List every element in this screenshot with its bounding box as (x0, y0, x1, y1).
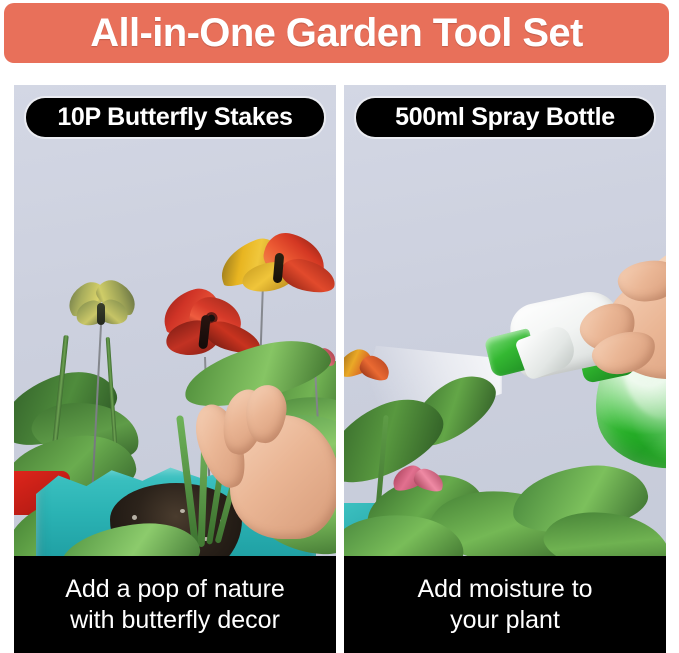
hand-holding-bottle (576, 253, 666, 403)
product-card-butterfly-stakes[interactable]: 10P Butterfly Stakes Add a pop of nature… (14, 85, 336, 653)
butterfly-stake-pink (392, 463, 444, 497)
caption-butterfly-stakes: Add a pop of naturewith butterfly decor (14, 556, 336, 653)
badge-spray-bottle: 500ml Spray Bottle (356, 98, 654, 137)
product-photo-spray-bottle: 500ml Spray Bottle (344, 85, 666, 556)
caption-text: Add a pop of naturewith butterfly decor (49, 574, 301, 636)
page-title: All-in-One Garden Tool Set (90, 13, 583, 53)
header-banner: All-in-One Garden Tool Set (4, 3, 669, 63)
product-photo-butterfly-stakes: 10P Butterfly Stakes (14, 85, 336, 556)
badge-label: 10P Butterfly Stakes (57, 105, 292, 130)
butterfly-stake-yellow-red (218, 235, 336, 299)
soil-fleck (132, 515, 137, 520)
caption-text: Add moisture toyour plant (401, 574, 608, 636)
butterfly-stake-green-yellow (66, 281, 138, 333)
badge-butterfly-stakes: 10P Butterfly Stakes (26, 98, 324, 137)
butterfly-wing (277, 255, 336, 298)
soil-fleck (180, 509, 185, 513)
butterfly-stake-orange (344, 349, 390, 387)
butterfly-wing (412, 466, 446, 493)
product-card-spray-bottle[interactable]: 500ml Spray Bottle Add moisture toyour p… (344, 85, 666, 653)
caption-spray-bottle: Add moisture toyour plant (344, 556, 666, 653)
butterfly-body (97, 303, 105, 325)
hand-placing-stake (194, 385, 336, 556)
badge-label: 500ml Spray Bottle (395, 105, 615, 130)
